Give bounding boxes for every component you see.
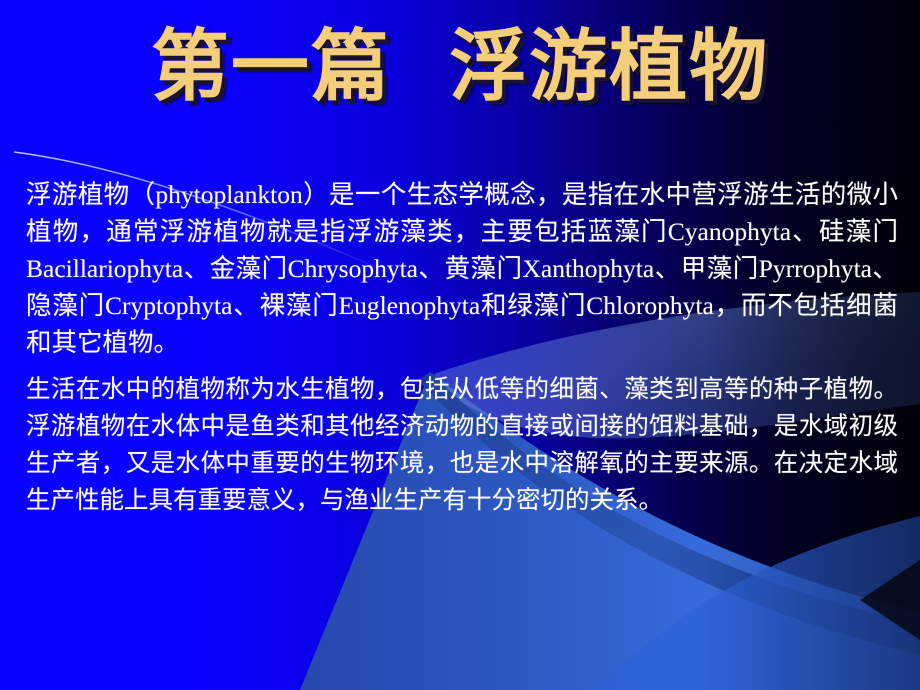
- body-paragraph-1: 浮游植物（phytoplankton）是一个生态学概念，是指在水中营浮游生活的微…: [26, 176, 898, 361]
- slide-title: 第一篇 浮游植物: [151, 28, 769, 106]
- slide-title-container: 第一篇 浮游植物: [0, 28, 920, 106]
- slide-body-container: 浮游植物（phytoplankton）是一个生态学概念，是指在水中营浮游生活的微…: [26, 176, 898, 521]
- presentation-slide: 第一篇 浮游植物 浮游植物（phytoplankton）是一个生态学概念，是指在…: [0, 0, 920, 690]
- body-paragraph-2: 生活在水中的植物称为水生植物，包括从低等的细菌、藻类到高等的种子植物。浮游植物在…: [26, 370, 898, 518]
